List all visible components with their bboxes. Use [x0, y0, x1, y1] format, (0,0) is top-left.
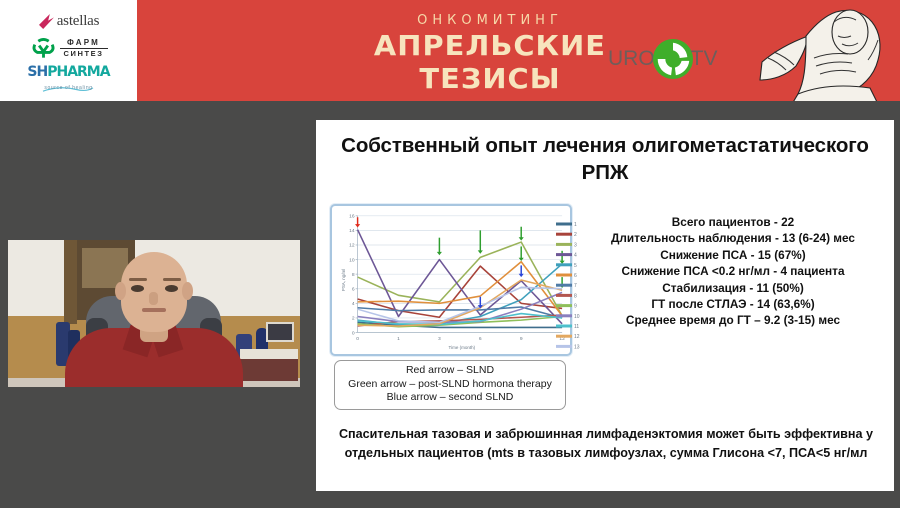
- arrow-key-red: Red arrow – SLND: [339, 364, 561, 378]
- conclusion-line-1: Спасительная тазовая и забрюшинная лимфа…: [330, 425, 882, 444]
- presentation-slide: Собственный опыт лечения олигометастатич…: [316, 120, 894, 491]
- chart-arrow-key: Red arrow – SLND Green arrow – post-SLND…: [334, 360, 566, 410]
- video-eye-right: [165, 285, 178, 292]
- svg-text:0: 0: [352, 330, 355, 336]
- screen: astellas ФАРМ: [0, 0, 900, 508]
- farmsintez-line1: ФАРМ: [67, 38, 100, 48]
- worker-statue-illustration: [758, 0, 900, 101]
- svg-text:6: 6: [574, 273, 577, 279]
- banner-subtitle: ОНКОМИТИНГ: [330, 12, 650, 29]
- arrow-key-green: Green arrow – post-SLND hormona therapy: [339, 378, 561, 392]
- farmsintez-mark-icon: [30, 36, 57, 62]
- svg-text:2: 2: [352, 316, 355, 322]
- svg-text:9: 9: [520, 336, 523, 342]
- svg-text:2: 2: [574, 232, 577, 238]
- svg-text:12: 12: [574, 334, 580, 340]
- shpharma-swoosh-icon: [38, 79, 98, 84]
- astellas-logo: astellas: [38, 11, 100, 33]
- svg-text:9: 9: [574, 304, 577, 310]
- video-papers: [240, 349, 298, 359]
- stat-followup-duration: Длительность наблюдения - 13 (6-24) мес: [578, 230, 888, 246]
- astellas-wordmark: astellas: [57, 13, 100, 30]
- video-door-frame: [64, 240, 77, 324]
- video-ear-right: [182, 282, 193, 300]
- farmsintez-logo: ФАРМ СИНТЕЗ: [30, 34, 108, 64]
- stat-ht-after-stlae: ГТ после СТЛАЭ - 14 (63,6%): [578, 296, 888, 312]
- urotv-emblem-icon: [652, 38, 694, 80]
- video-brow-left: [129, 278, 147, 281]
- presenter-video-feed[interactable]: [8, 240, 300, 387]
- farmsintez-wordmark: ФАРМ СИНТЕЗ: [60, 38, 108, 59]
- svg-text:5: 5: [574, 263, 577, 269]
- stat-mean-time-to-ht: Среднее время до ГТ – 9.2 (3-15) мес: [578, 312, 888, 328]
- svg-text:14: 14: [349, 228, 355, 234]
- shpharma-logo: SHPHARMA source of healing: [27, 65, 109, 91]
- video-picture-frame: [266, 322, 294, 342]
- slide-title: Собственный опыт лечения олигометастатич…: [316, 120, 894, 186]
- event-banner: astellas ФАРМ: [0, 0, 900, 101]
- shpharma-wordmark: SHPHARMA: [27, 65, 109, 79]
- video-brow-right: [163, 278, 181, 281]
- svg-text:13: 13: [574, 344, 580, 350]
- psa-chart: 02468101214160136912 PSA, ng/ml Time (mo…: [330, 204, 572, 356]
- conclusion-line-2: отдельных пациентов (mts в тазовых лимфо…: [330, 444, 882, 463]
- sponsor-logo-panel: astellas ФАРМ: [0, 0, 137, 101]
- svg-text:6: 6: [352, 287, 355, 293]
- arrow-key-blue: Blue arrow – second SLND: [339, 391, 561, 405]
- svg-text:1: 1: [397, 336, 400, 342]
- video-mouth: [142, 308, 166, 312]
- svg-text:10: 10: [349, 257, 355, 263]
- svg-text:3: 3: [574, 242, 577, 248]
- svg-text:12: 12: [349, 243, 355, 249]
- video-eye-left: [131, 285, 144, 292]
- svg-text:8: 8: [352, 272, 355, 278]
- chart-svg: 02468101214160136912 PSA, ng/ml Time (mo…: [334, 208, 568, 352]
- stat-psa-under-02: Снижение ПСА <0.2 нг/мл - 4 пациента: [578, 263, 888, 279]
- urotv-tv-text: TV: [691, 47, 718, 71]
- svg-text:4: 4: [352, 301, 355, 307]
- svg-text:4: 4: [574, 253, 577, 259]
- chart-plot-area: 02468101214160136912 PSA, ng/ml Time (mo…: [334, 208, 568, 352]
- svg-text:6: 6: [479, 336, 482, 342]
- svg-text:0: 0: [356, 336, 359, 342]
- astellas-star-icon: [38, 14, 55, 29]
- svg-text:16: 16: [349, 214, 355, 220]
- svg-text:7: 7: [574, 283, 577, 289]
- farmsintez-line2: СИНТЕЗ: [63, 49, 103, 59]
- urotv-logo: URO TV: [608, 38, 718, 80]
- video-nose: [149, 292, 158, 305]
- stat-psa-decline: Снижение ПСА - 15 (67%): [578, 247, 888, 263]
- stat-stabilization: Стабилизация - 11 (50%): [578, 280, 888, 296]
- slide-body: 02468101214160136912 PSA, ng/ml Time (mo…: [316, 204, 894, 414]
- urotv-uro-text: URO: [608, 47, 655, 71]
- banner-title-block: ОНКОМИТИНГ АПРЕЛЬСКИЕ ТЕЗИСЫ: [330, 12, 650, 95]
- shpharma-sh: SH: [27, 64, 47, 80]
- stat-total-patients: Всего пациентов - 22: [578, 214, 888, 230]
- results-summary: Всего пациентов - 22 Длительность наблюд…: [578, 214, 888, 329]
- svg-text:1: 1: [574, 222, 577, 228]
- chart-y-axis-label: PSA, ng/ml: [341, 269, 346, 291]
- slide-conclusion: Спасительная тазовая и забрюшинная лимфа…: [330, 425, 882, 463]
- chart-x-axis-label: Time (month): [448, 345, 475, 350]
- shpharma-tagline: source of healing: [44, 85, 92, 91]
- shpharma-pharma: PHARMA: [47, 64, 109, 80]
- svg-text:8: 8: [574, 293, 577, 299]
- banner-main-title: АПРЕЛЬСКИЕ ТЕЗИСЫ: [325, 29, 655, 95]
- video-ear-left: [115, 282, 126, 300]
- svg-text:3: 3: [438, 336, 441, 342]
